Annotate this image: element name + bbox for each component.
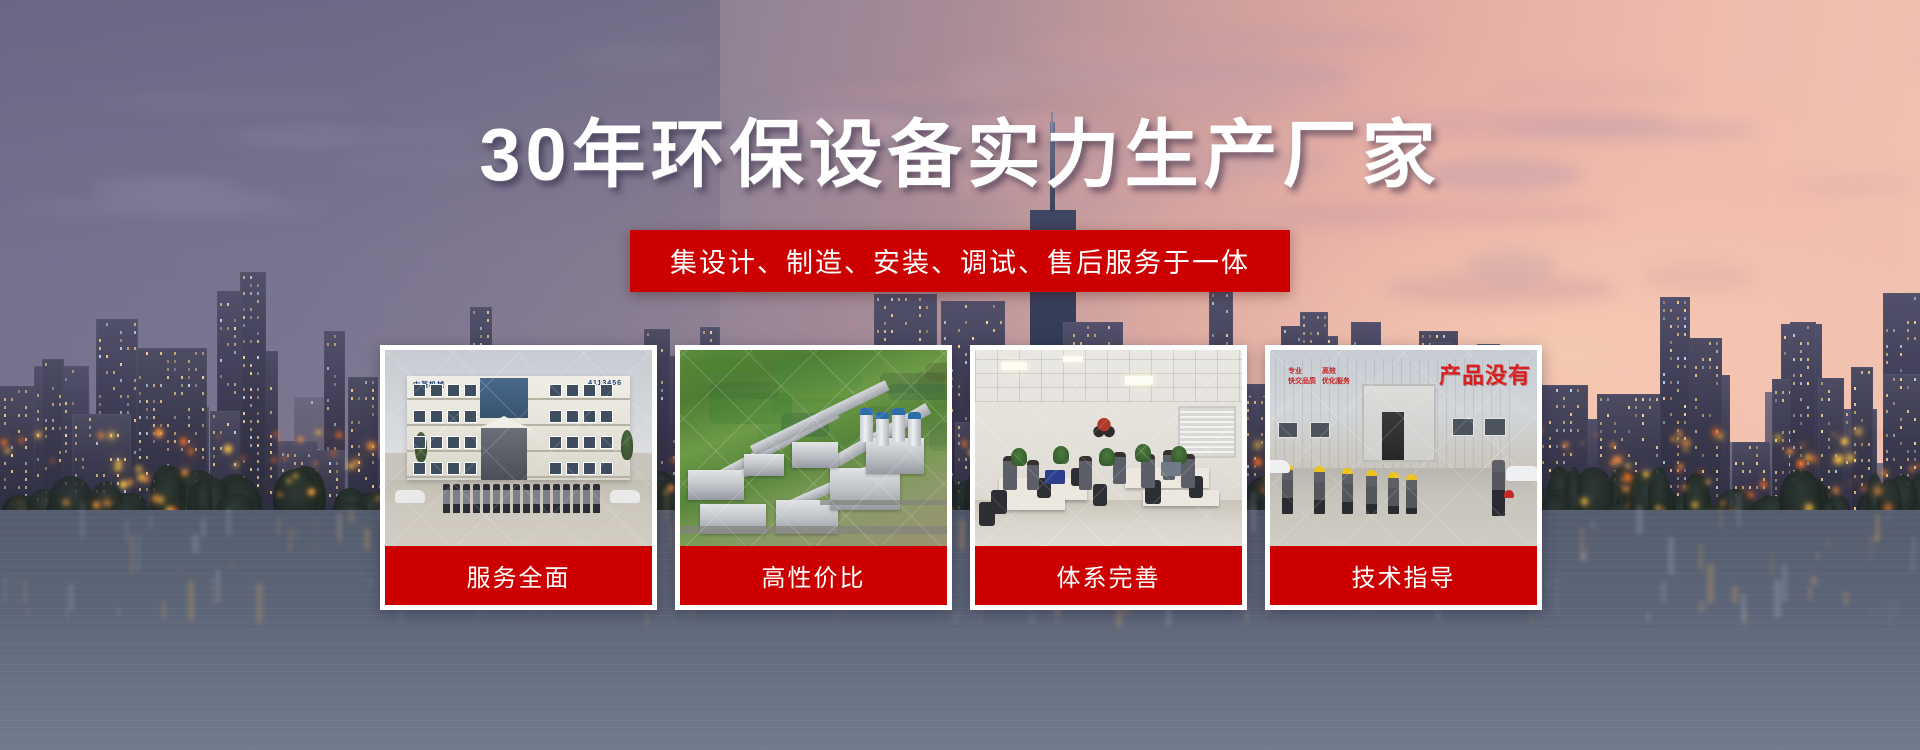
card-label-service: 服务全面 bbox=[385, 546, 652, 605]
card-image-factory-workers: 产品没有 专业 快交品质 高效 优化服务 bbox=[1270, 350, 1537, 546]
factory-sign-small-1: 专业 bbox=[1288, 368, 1302, 376]
card-label-system: 体系完善 bbox=[975, 546, 1242, 605]
card-label-guidance: 技术指导 bbox=[1270, 546, 1537, 605]
feature-card-value[interactable]: 高性价比 bbox=[675, 345, 952, 610]
feature-card-row: 中基机械 4113456 服务全面 高性价比 体系完善 bbox=[380, 345, 1545, 610]
feature-card-guidance[interactable]: 产品没有 专业 快交品质 高效 优化服务 技术指导 bbox=[1265, 345, 1542, 610]
feature-card-service[interactable]: 中基机械 4113456 服务全面 bbox=[380, 345, 657, 610]
subtitle-container: 集设计、制造、安装、调试、售后服务于一体 bbox=[0, 230, 1920, 292]
factory-sign-small-4: 优化服务 bbox=[1322, 378, 1350, 386]
wall-logo-icon bbox=[1087, 412, 1121, 440]
card-image-office-building: 中基机械 4113456 bbox=[385, 350, 652, 546]
card-image-industrial-plant bbox=[680, 350, 947, 546]
factory-sign-small-2: 高效 bbox=[1322, 368, 1336, 376]
feature-card-system[interactable]: 体系完善 bbox=[970, 345, 1247, 610]
factory-sign-text: 产品没有 bbox=[1439, 358, 1531, 390]
card-image-office-interior bbox=[975, 350, 1242, 546]
page-title: 30年环保设备实力生产厂家 bbox=[0, 118, 1920, 192]
subtitle-badge: 集设计、制造、安装、调试、售后服务于一体 bbox=[630, 230, 1290, 292]
factory-sign-small-3: 快交品质 bbox=[1288, 378, 1316, 386]
card-label-value: 高性价比 bbox=[680, 546, 947, 605]
